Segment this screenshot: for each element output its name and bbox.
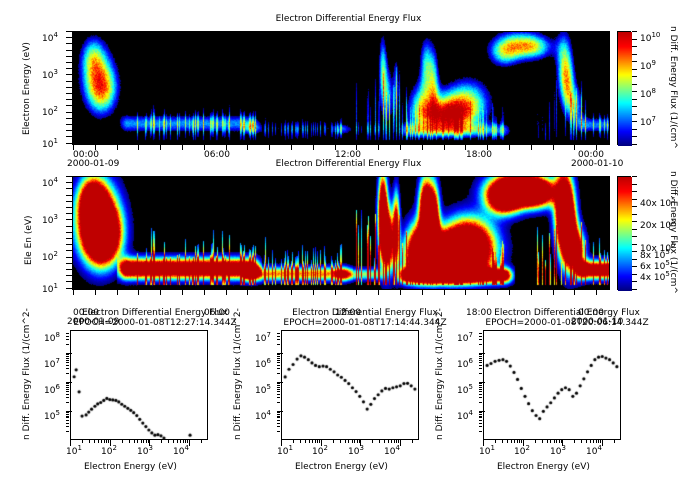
axis-tick <box>632 229 637 230</box>
spectrum-2-ytick-5: 105 <box>255 383 271 396</box>
spectrum-y-tick <box>479 339 482 340</box>
spectrum-x-tick <box>511 440 512 443</box>
spectrum-y-tick <box>277 389 280 390</box>
spectrum-y-tick <box>66 373 69 374</box>
spectrum-y-tick <box>66 423 69 424</box>
spectrum-y-tick <box>479 382 485 383</box>
spectrum-y-tick <box>66 382 72 383</box>
spectrum-3-ytick-4: 104 <box>457 409 473 422</box>
x-axis-tick <box>138 145 139 150</box>
spectrum-x-tick <box>357 440 358 443</box>
spectrum-2-xlabel: Electron Energy (eV) <box>295 462 388 472</box>
y-axis-tick <box>66 275 72 276</box>
x-axis-tick <box>465 290 466 295</box>
spectrum-y-tick <box>66 389 69 390</box>
spectrum-x-tick <box>185 440 186 443</box>
spectrum-y-tick <box>479 412 482 413</box>
axis-tick <box>632 266 637 267</box>
x-axis-tick <box>444 290 445 295</box>
middle-colorbar-canvas <box>618 177 632 291</box>
top-cbtick-7: 107 <box>640 115 656 128</box>
spectrum-x-tick <box>183 440 184 443</box>
spectrum-x-tick <box>149 440 150 446</box>
x-axis-tick <box>247 290 248 295</box>
spectrum-y-tick <box>66 414 69 415</box>
spectrum-x-tick <box>101 440 102 443</box>
x-axis-tick <box>226 145 227 150</box>
y-axis-tick <box>66 112 72 113</box>
spectrum-y-tick <box>66 344 69 345</box>
axis-tick <box>632 199 637 200</box>
axis-tick <box>632 129 637 130</box>
spectrum-y-tick <box>277 402 280 403</box>
spectrum-y-tick <box>277 412 280 413</box>
middle-ytick-3: 103 <box>42 213 58 226</box>
spectrum-x-tick <box>94 440 95 443</box>
x-axis-tick <box>400 290 401 295</box>
spectrum-y-tick <box>277 416 280 417</box>
spectrum-3-xtick-3: 103 <box>550 444 566 457</box>
spectrum-y-tick <box>277 394 280 395</box>
axis-tick <box>632 84 637 85</box>
spectrum-x-tick <box>201 440 202 443</box>
spectrum-3-xlabel: Electron Energy (eV) <box>497 462 590 472</box>
spectrum-y-tick <box>479 373 482 374</box>
x-axis-tick <box>313 145 314 150</box>
spectrum-y-tick <box>66 420 69 421</box>
spectrum-2-canvas <box>282 331 419 440</box>
spectrum-1-plot-area <box>70 330 208 440</box>
spectrum-x-tick <box>98 440 99 443</box>
spectrum-y-tick <box>66 411 72 412</box>
y-axis-tick <box>66 257 72 258</box>
x-axis-tick <box>291 145 292 150</box>
spectrum-x-tick <box>333 440 334 443</box>
axis-tick <box>632 176 637 177</box>
spectrum-x-tick <box>517 440 518 443</box>
y-axis-tick <box>66 232 72 233</box>
axis-tick <box>632 91 637 92</box>
spectrum-y-tick <box>277 397 280 398</box>
spectrum-y-tick <box>479 353 485 354</box>
spectrum-y-tick <box>66 431 69 432</box>
x-axis-tick <box>335 145 336 150</box>
spectrum-x-tick <box>129 440 130 443</box>
x-axis-tick <box>226 290 227 295</box>
spectrum-x-tick <box>104 440 105 443</box>
middle-ytick-2: 102 <box>42 250 58 263</box>
spectrum-y-tick <box>277 431 280 432</box>
spectrum-y-tick <box>277 383 280 384</box>
spectrum-y-tick <box>66 394 69 395</box>
spectrum-x-tick <box>554 440 555 443</box>
spectrum-y-tick <box>479 414 482 415</box>
spectrum-x-tick <box>523 440 524 446</box>
spectrum-y-tick <box>66 353 72 354</box>
x-axis-tick <box>378 145 379 150</box>
spectrum-y-tick <box>479 389 482 390</box>
axis-tick <box>632 251 637 252</box>
spectrum-y-tick <box>277 417 280 418</box>
spectrum-x-tick <box>507 440 508 443</box>
spectrum-1-ytick-6: 106 <box>44 383 60 396</box>
spectrum-x-tick <box>574 440 575 443</box>
y-axis-tick <box>66 93 72 94</box>
spectrum-x-tick <box>312 440 313 443</box>
x-axis-tick <box>422 290 423 295</box>
spectrum-2-ytick-6: 106 <box>255 357 271 370</box>
y-axis-tick <box>66 263 72 264</box>
axis-tick <box>632 136 637 137</box>
spectrum-y-tick <box>277 336 280 337</box>
spectrum-x-tick <box>614 440 615 443</box>
middle-ylabel: Ele En (eV) <box>24 215 34 265</box>
y-axis-tick <box>66 50 72 51</box>
y-axis-tick <box>66 250 72 251</box>
spectrum-y-tick <box>66 385 69 386</box>
x-axis-tick <box>509 290 510 295</box>
spectrum-x-tick <box>391 440 392 443</box>
x-axis-tick <box>204 145 205 150</box>
spectrum-y-tick <box>479 360 482 361</box>
spectrum-x-tick <box>180 440 181 443</box>
y-axis-tick <box>66 143 72 144</box>
x-axis-tick <box>95 290 96 295</box>
spectrum-y-tick <box>66 412 69 413</box>
spectrum-y-tick <box>479 333 482 334</box>
y-axis-tick <box>66 105 72 106</box>
middle-ytick-1: 101 <box>42 282 58 295</box>
spectrum-x-tick <box>345 440 346 443</box>
spectrum-x-tick <box>360 440 361 446</box>
spectrum-y-tick <box>277 354 280 355</box>
spectrum-y-tick <box>479 423 482 424</box>
top-panel-title: Electron Differential Energy Flux <box>0 14 697 24</box>
spectrum-x-tick <box>89 440 90 443</box>
middle-spectrogram-plot-area <box>72 176 610 290</box>
spectrum-x-tick <box>556 440 557 443</box>
y-axis-tick <box>66 269 72 270</box>
spectrum-y-tick <box>66 362 69 363</box>
spectrum-x-tick <box>168 440 169 443</box>
spectrum-x-tick <box>321 440 322 446</box>
spectrum-2-xtick-3: 103 <box>348 444 364 457</box>
top-spectrogram-canvas <box>73 32 610 145</box>
axis-tick <box>632 144 637 145</box>
top-spectrogram-plot-area <box>72 31 610 145</box>
spectrum-y-tick <box>277 391 280 392</box>
spectrum-y-tick <box>479 383 482 384</box>
top-colorbar-canvas <box>618 32 632 146</box>
x-axis-tick <box>378 290 379 295</box>
axis-tick <box>632 281 637 282</box>
spectrum-1-xtick-4: 104 <box>173 444 189 457</box>
spectrum-x-tick <box>143 440 144 443</box>
spectrum-y-tick <box>277 344 280 345</box>
spectrum-y-tick <box>479 420 482 421</box>
spectrum-y-tick <box>66 368 69 369</box>
top-cbtick-8: 108 <box>640 87 656 100</box>
spectrum-x-tick <box>315 440 316 443</box>
spectrum-x-tick <box>82 440 83 443</box>
spectrum-y-tick <box>66 402 69 403</box>
x-axis-tick <box>73 290 74 295</box>
x-axis-tick <box>356 145 357 150</box>
spectrum-y-tick <box>277 368 280 369</box>
axis-tick <box>632 191 637 192</box>
x-axis-tick <box>553 145 554 150</box>
spectrum-y-tick <box>66 383 69 384</box>
spectrum-3-plot-area <box>483 330 621 440</box>
spectrum-y-tick <box>66 397 69 398</box>
spectrum-y-tick <box>66 358 69 359</box>
spectrum-3-ytick-6: 106 <box>457 357 473 370</box>
spectrum-y-tick <box>277 339 280 340</box>
y-axis-tick <box>66 219 72 220</box>
x-axis-tick <box>356 290 357 295</box>
middle-colorbar <box>617 176 631 290</box>
spectrum-x-tick <box>340 440 341 443</box>
top-ytick-2: 102 <box>42 105 58 118</box>
spectrum-x-tick <box>400 440 401 446</box>
top-ytick-1: 101 <box>42 137 58 150</box>
spectrum-y-tick <box>479 344 482 345</box>
y-axis-tick <box>66 182 72 183</box>
spectrum-y-tick <box>479 426 482 427</box>
x-axis-tick <box>182 290 183 295</box>
spectrum-x-tick <box>134 440 135 443</box>
x-axis-tick <box>269 145 270 150</box>
spectrum-x-tick <box>514 440 515 443</box>
spectrum-x-tick <box>483 440 484 446</box>
axis-tick <box>632 121 637 122</box>
spectrum-2-ylabel: n Diff. Energy Flux (1/(cm^2- <box>233 308 243 440</box>
spectrum-y-tick <box>66 387 69 388</box>
y-axis-tick <box>66 81 72 82</box>
y-axis-tick <box>66 31 72 32</box>
spectrum-x-tick <box>384 440 385 443</box>
spectrum-x-tick <box>348 440 349 443</box>
y-axis-tick <box>66 238 72 239</box>
spectrum-y-tick <box>277 333 280 334</box>
spectrum-y-tick <box>277 385 280 386</box>
spectrum-2-plot-area <box>281 330 419 440</box>
x-axis-tick <box>444 145 445 150</box>
middle-ytick-4: 104 <box>42 176 58 189</box>
x-axis-tick <box>160 145 161 150</box>
spectrum-x-tick <box>602 440 603 446</box>
y-axis-tick <box>66 124 72 125</box>
y-axis-tick <box>66 288 72 289</box>
spectrum-y-tick <box>277 353 283 354</box>
spectrum-3-ylabel: n Diff. Energy Flux (1/(cm^2- <box>435 308 445 440</box>
spectrum-y-tick <box>277 362 280 363</box>
x-axis-tick <box>313 290 314 295</box>
spectrum-x-tick <box>372 440 373 443</box>
spectrum-y-tick <box>277 365 280 366</box>
y-axis-tick <box>66 74 72 75</box>
spectrum-x-tick <box>388 440 389 443</box>
spectrum-y-tick <box>479 411 485 412</box>
axis-tick <box>632 206 637 207</box>
spectrum-y-tick <box>479 358 482 359</box>
spectrum-y-tick <box>479 402 482 403</box>
spectrum-y-tick <box>66 360 69 361</box>
spectrum-x-tick <box>586 440 587 443</box>
x-axis-tick <box>269 290 270 295</box>
spectrum-y-tick <box>479 354 482 355</box>
axis-tick <box>632 69 637 70</box>
spectrum-x-tick <box>106 440 107 443</box>
y-axis-tick <box>66 62 72 63</box>
axis-tick <box>632 61 637 62</box>
spectrum-x-tick <box>110 440 111 446</box>
spectrum-y-tick <box>479 394 482 395</box>
top-ytick-4: 104 <box>42 31 58 44</box>
spectrum-y-tick <box>277 414 280 415</box>
x-axis-tick <box>247 145 248 150</box>
spectrum-1-ytick-8: 108 <box>44 331 60 344</box>
top-cbtick-10: 1010 <box>640 31 660 44</box>
spectrum-y-tick <box>479 387 482 388</box>
spectrum-3-canvas <box>484 331 621 440</box>
spectrum-x-tick <box>495 440 496 443</box>
x-axis-tick <box>335 290 336 295</box>
spectrum-3-ytick-5: 105 <box>457 383 473 396</box>
axis-tick <box>632 289 637 290</box>
middle-panel-title: Electron Differential Energy Flux <box>0 159 697 169</box>
y-axis-tick <box>66 130 72 131</box>
spectrum-y-tick <box>479 362 482 363</box>
y-axis-tick <box>66 43 72 44</box>
spectrum-x-tick <box>559 440 560 443</box>
spectrum-y-tick <box>277 423 280 424</box>
spectrum-y-tick <box>479 431 482 432</box>
spectrum-3-xtick-1: 101 <box>479 444 495 457</box>
axis-tick <box>632 244 637 245</box>
spectrum-y-tick <box>479 397 482 398</box>
spectrum-x-tick <box>547 440 548 443</box>
spectrum-y-tick <box>277 360 280 361</box>
spectrum-x-tick <box>137 440 138 443</box>
spectrum-1-xtick-3: 103 <box>137 444 153 457</box>
spectrum-y-tick <box>479 336 482 337</box>
spectrum-y-tick <box>66 354 69 355</box>
x-axis-tick <box>574 290 575 295</box>
spectrum-x-tick <box>352 440 353 443</box>
spectrum-y-tick <box>277 387 280 388</box>
spectrum-1-xtick-1: 101 <box>66 444 82 457</box>
top-cbtick-9: 109 <box>640 59 656 72</box>
spectrum-1-canvas <box>71 331 208 440</box>
spectrum-x-tick <box>305 440 306 443</box>
spectrum-y-tick <box>479 391 482 392</box>
top-ylabel: Electron Energy (eV) <box>22 42 32 135</box>
spectrum-y-tick <box>479 365 482 366</box>
x-axis-tick <box>487 290 488 295</box>
x-axis-tick <box>73 145 74 150</box>
x-axis-tick <box>117 290 118 295</box>
spectrum-x-tick <box>542 440 543 443</box>
spectrum-2-xtick-4: 104 <box>384 444 400 457</box>
x-axis-tick <box>465 145 466 150</box>
spectrum-y-tick <box>66 333 69 334</box>
spectrum-y-tick <box>479 368 482 369</box>
y-axis-tick <box>66 201 72 202</box>
spectrum-2-title: Electron Differential Energy Flux <box>250 308 480 318</box>
y-axis-tick <box>66 188 72 189</box>
spectrum-x-tick <box>309 440 310 443</box>
spectrum-x-tick <box>562 440 563 446</box>
spectrum-x-tick <box>293 440 294 443</box>
x-axis-tick <box>487 145 488 150</box>
top-colorbar <box>617 31 631 145</box>
axis-tick <box>632 259 637 260</box>
y-axis-tick <box>66 207 72 208</box>
x-axis-tick <box>531 290 532 295</box>
spectrum-3-xtick-4: 104 <box>586 444 602 457</box>
spectrum-x-tick <box>189 440 190 446</box>
x-axis-tick <box>160 290 161 295</box>
spectrum-3-title: Electron Differential Energy Flux <box>452 308 682 318</box>
middle-spectrogram-canvas <box>73 177 610 290</box>
spectrum-x-tick <box>141 440 142 443</box>
y-axis-tick <box>66 87 72 88</box>
x-axis-tick <box>531 145 532 150</box>
spectrum-3-ytick-7: 107 <box>457 331 473 344</box>
spectrum-y-tick <box>66 356 69 357</box>
middle-colorbar-label: n Diff. Energy Flux (1/(cm^ <box>668 171 678 294</box>
spectrum-y-tick <box>66 365 69 366</box>
spectrum-y-tick <box>277 373 280 374</box>
spectrum-2-xtick-1: 101 <box>277 444 293 457</box>
y-axis-tick <box>66 136 72 137</box>
spectrum-y-tick <box>277 411 283 412</box>
spectrum-x-tick <box>502 440 503 443</box>
y-axis-tick <box>66 68 72 69</box>
y-axis-tick <box>66 99 72 100</box>
spectrum-y-tick <box>479 417 482 418</box>
axis-tick <box>632 106 637 107</box>
spectrum-1-ylabel: n Diff. Energy Flux (1/(cm^2- <box>22 308 32 440</box>
spectrum-1-ytick-7: 107 <box>44 357 60 370</box>
x-axis-tick <box>596 290 597 295</box>
spectrum-x-tick <box>394 440 395 443</box>
top-ytick-3: 103 <box>42 68 58 81</box>
axis-tick <box>632 99 637 100</box>
axis-tick <box>632 236 637 237</box>
spectrum-x-tick <box>300 440 301 443</box>
spectrum-2-ytick-7: 107 <box>255 331 271 344</box>
x-axis-tick <box>422 145 423 150</box>
y-axis-tick <box>66 281 72 282</box>
spectrum-y-tick <box>479 356 482 357</box>
spectrum-y-tick <box>479 385 482 386</box>
spectrum-3-epoch: EPOCH=2000-01-08T20:06:14.344Z <box>447 318 687 328</box>
spectrum-x-tick <box>598 440 599 443</box>
y-axis-tick <box>66 195 72 196</box>
x-axis-tick <box>291 290 292 295</box>
spectrum-x-tick <box>593 440 594 443</box>
axis-tick <box>632 31 637 32</box>
spectrum-y-tick <box>66 417 69 418</box>
spectrum-x-tick <box>581 440 582 443</box>
x-axis-tick <box>204 290 205 295</box>
x-axis-tick <box>553 290 554 295</box>
spectrum-x-tick <box>379 440 380 443</box>
spectrum-y-tick <box>479 416 482 417</box>
spectrum-x-tick <box>412 440 413 443</box>
